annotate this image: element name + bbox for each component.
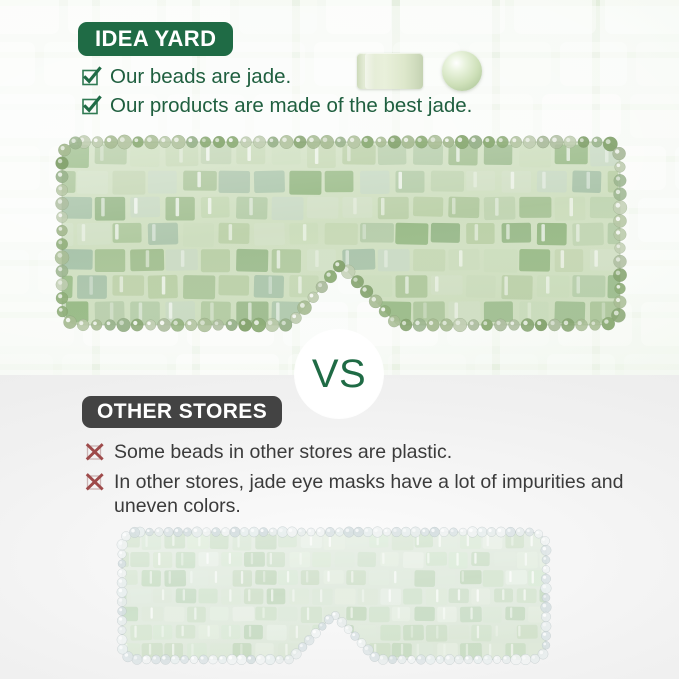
jade-bead bbox=[265, 654, 275, 664]
bead-highlight bbox=[380, 656, 383, 659]
tile-highlight bbox=[339, 276, 343, 293]
jade-bead bbox=[388, 315, 400, 327]
bead-highlight bbox=[415, 321, 419, 325]
list-item-label: In other stores, jade eye masks have a l… bbox=[114, 470, 679, 518]
bead-highlight bbox=[120, 137, 125, 142]
bead-highlight bbox=[58, 172, 62, 176]
bead-highlight bbox=[119, 627, 122, 630]
jade-bead bbox=[400, 319, 412, 331]
jade-bead bbox=[360, 285, 373, 298]
bead-highlight bbox=[134, 656, 138, 660]
bead-highlight bbox=[313, 630, 316, 633]
jade-bead bbox=[151, 655, 160, 664]
bead-highlight bbox=[615, 149, 619, 153]
jade-bead bbox=[251, 318, 265, 332]
jade-bead bbox=[542, 565, 550, 573]
jade-bead bbox=[401, 135, 414, 148]
jade-bead bbox=[118, 607, 127, 616]
bead-highlight bbox=[390, 317, 394, 321]
bead-highlight bbox=[441, 529, 444, 532]
jade-bead bbox=[318, 622, 326, 630]
bead-highlight bbox=[458, 137, 463, 142]
jade-bead bbox=[200, 137, 211, 148]
bead-highlight bbox=[220, 657, 223, 660]
bead-highlight bbox=[134, 138, 138, 142]
jade-bead bbox=[388, 135, 401, 148]
bead-highlight bbox=[71, 139, 75, 143]
jade-bead bbox=[520, 654, 531, 665]
jade-bead bbox=[91, 320, 102, 331]
jade-bead bbox=[241, 137, 252, 148]
bead-highlight bbox=[483, 321, 487, 325]
bead-highlight bbox=[616, 230, 620, 234]
bead-highlight bbox=[147, 137, 152, 142]
bead-highlight bbox=[153, 656, 156, 659]
jade-bead bbox=[218, 655, 226, 663]
vs-divider-badge: VS bbox=[295, 330, 383, 418]
jade-bead bbox=[294, 136, 307, 149]
bead-highlight bbox=[187, 321, 191, 325]
bead-highlight bbox=[527, 529, 530, 532]
jade-bead bbox=[230, 527, 240, 537]
bead-highlight bbox=[456, 320, 461, 325]
jade-bead bbox=[444, 654, 454, 664]
jade-bead bbox=[455, 655, 464, 664]
bead-highlight bbox=[479, 529, 482, 532]
jade-bead-swatch bbox=[442, 51, 482, 91]
bead-highlight bbox=[543, 557, 546, 560]
bead-highlight bbox=[174, 137, 179, 142]
jade-bead bbox=[92, 136, 103, 147]
bead-highlight bbox=[418, 656, 421, 659]
bead-highlight bbox=[617, 244, 621, 248]
jade-bead bbox=[69, 137, 82, 150]
bead-highlight bbox=[566, 138, 570, 142]
bead-highlight bbox=[616, 257, 620, 261]
jade-bead bbox=[183, 528, 192, 537]
bead-highlight bbox=[185, 529, 188, 532]
jade-bead bbox=[56, 170, 68, 182]
jade-bead bbox=[55, 251, 69, 265]
jade-bead bbox=[613, 214, 626, 227]
bead-highlight bbox=[616, 217, 620, 221]
jade-bead bbox=[615, 283, 626, 294]
jade-bead bbox=[132, 136, 143, 147]
bead-highlight bbox=[551, 321, 555, 325]
badge-idea-yard-label: IDEA YARD bbox=[95, 26, 216, 52]
jade-bead bbox=[443, 137, 454, 148]
bead-highlight bbox=[384, 529, 387, 532]
bead-highlight bbox=[147, 322, 151, 326]
jade-bead bbox=[259, 527, 268, 536]
bead-highlight bbox=[248, 657, 251, 660]
jade-bead bbox=[469, 135, 482, 148]
jade-bead bbox=[253, 136, 265, 148]
jade-bead bbox=[351, 632, 360, 641]
jade-bead bbox=[541, 583, 552, 594]
jade-bead bbox=[144, 135, 158, 149]
bead-highlight bbox=[471, 138, 475, 142]
mask-sheen bbox=[122, 532, 546, 659]
bead-highlight bbox=[309, 138, 314, 143]
badge-idea-yard: IDEA YARD bbox=[78, 22, 233, 56]
jade-bead bbox=[354, 527, 364, 537]
bead-highlight bbox=[540, 651, 543, 654]
jade-bead bbox=[561, 318, 574, 331]
bead-highlight bbox=[119, 617, 122, 620]
bead-highlight bbox=[268, 320, 273, 325]
bead-highlight bbox=[229, 138, 233, 142]
list-item-label: Our beads are jade. bbox=[110, 64, 291, 89]
bead-highlight bbox=[119, 646, 123, 650]
jade-bead bbox=[369, 295, 382, 308]
bead-highlight bbox=[442, 321, 446, 325]
comparison-infographic: IDEA YARD Our beads are jade. Our produc… bbox=[0, 0, 679, 679]
jade-bead bbox=[129, 527, 139, 537]
jade-bead bbox=[56, 292, 68, 304]
bead-highlight bbox=[512, 656, 516, 660]
jade-bead bbox=[335, 137, 346, 148]
bead-highlight bbox=[378, 139, 382, 143]
bead-highlight bbox=[66, 318, 70, 322]
jade-bead bbox=[279, 319, 292, 332]
bead-highlight bbox=[616, 298, 620, 302]
bead-highlight bbox=[470, 321, 474, 325]
drawback-list: Some beads in other stores are plastic. … bbox=[86, 440, 679, 518]
bead-highlight bbox=[522, 656, 526, 660]
bead-highlight bbox=[326, 616, 329, 619]
jade-bead bbox=[56, 157, 69, 170]
jade-bead bbox=[155, 528, 164, 537]
jade-tile bbox=[307, 301, 340, 325]
jade-bead bbox=[413, 318, 426, 331]
bead-highlight bbox=[552, 137, 557, 142]
jade-bead bbox=[105, 136, 118, 149]
jade-bead bbox=[361, 136, 373, 148]
jade-bead bbox=[117, 578, 127, 588]
bead-highlight bbox=[403, 529, 406, 532]
bead-highlight bbox=[277, 657, 280, 660]
bead-highlight bbox=[161, 138, 165, 142]
jade-bead bbox=[213, 320, 224, 331]
bead-highlight bbox=[543, 547, 547, 551]
bead-highlight bbox=[318, 529, 321, 532]
bead-highlight bbox=[93, 321, 97, 325]
jade-bead bbox=[213, 136, 225, 148]
bead-highlight bbox=[339, 619, 342, 622]
bead-highlight bbox=[346, 529, 350, 533]
bead-highlight bbox=[200, 320, 205, 325]
bead-highlight bbox=[504, 657, 507, 660]
bead-highlight bbox=[213, 529, 216, 532]
bead-highlight bbox=[204, 529, 207, 532]
jade-bead bbox=[541, 602, 552, 613]
bead-highlight bbox=[306, 637, 309, 640]
jade-bead bbox=[208, 655, 217, 664]
bead-highlight bbox=[162, 656, 165, 659]
bead-highlight bbox=[542, 538, 545, 541]
bead-highlight bbox=[355, 529, 358, 532]
bead-highlight bbox=[429, 321, 433, 325]
jade-bead bbox=[56, 278, 68, 290]
jade-bead bbox=[117, 569, 126, 578]
bead-highlight bbox=[119, 589, 123, 593]
jade-bead bbox=[550, 135, 564, 149]
jade-bead bbox=[269, 528, 277, 536]
jade-bead bbox=[525, 528, 533, 536]
bead-highlight bbox=[359, 640, 362, 643]
bead-highlight bbox=[166, 529, 169, 532]
jade-bead bbox=[117, 318, 131, 332]
bead-highlight bbox=[282, 321, 286, 325]
bead-highlight bbox=[61, 146, 65, 150]
bead-highlight bbox=[156, 529, 159, 532]
bead-highlight bbox=[173, 321, 177, 325]
bead-highlight bbox=[147, 529, 150, 532]
cross-x-icon bbox=[86, 443, 105, 462]
jade-bead bbox=[615, 243, 626, 254]
jade-bead bbox=[117, 616, 127, 626]
bead-highlight bbox=[617, 285, 621, 289]
jade-bead bbox=[357, 638, 366, 647]
jade-bead bbox=[344, 527, 355, 538]
jade-bead bbox=[117, 597, 127, 607]
bead-highlight bbox=[390, 657, 393, 660]
bead-highlight bbox=[270, 138, 274, 142]
jade-bead bbox=[77, 319, 89, 331]
jade-bead bbox=[277, 527, 288, 538]
jade-bead bbox=[421, 528, 429, 536]
bead-highlight bbox=[456, 657, 459, 660]
checkbox-check-icon bbox=[82, 67, 101, 86]
bead-highlight bbox=[267, 656, 271, 660]
bead-highlight bbox=[337, 139, 341, 143]
bead-highlight bbox=[133, 321, 137, 325]
bead-highlight bbox=[402, 321, 406, 325]
jade-bead bbox=[337, 617, 347, 627]
bead-highlight bbox=[310, 294, 314, 298]
jade-bead bbox=[541, 574, 550, 583]
jade-bead bbox=[324, 270, 337, 283]
bead-highlight bbox=[606, 139, 611, 144]
jade-bead bbox=[190, 655, 198, 663]
bead-highlight bbox=[257, 656, 260, 659]
jade-eye-mask-premium-image bbox=[58, 136, 624, 336]
jade-bead bbox=[64, 316, 77, 329]
bead-highlight bbox=[286, 656, 289, 659]
bead-highlight bbox=[499, 138, 503, 142]
bead-highlight bbox=[517, 529, 520, 532]
bead-highlight bbox=[241, 321, 245, 325]
jade-bead bbox=[410, 527, 420, 537]
jade-bead bbox=[118, 626, 126, 634]
bead-highlight bbox=[144, 657, 147, 660]
bead-highlight bbox=[362, 287, 366, 291]
jade-bead bbox=[105, 320, 116, 331]
bead-highlight bbox=[107, 138, 111, 142]
bead-highlight bbox=[469, 528, 473, 532]
jade-bead bbox=[459, 528, 467, 536]
jade-bead bbox=[415, 136, 427, 148]
jade-bead bbox=[308, 292, 319, 303]
jade-bead bbox=[202, 528, 211, 537]
jade-bead bbox=[483, 136, 495, 148]
bead-highlight bbox=[525, 138, 529, 142]
jade-bead bbox=[575, 319, 587, 331]
bead-highlight bbox=[372, 654, 375, 657]
bead-highlight bbox=[616, 176, 620, 180]
bead-highlight bbox=[58, 294, 62, 298]
jade-bead bbox=[502, 655, 511, 664]
bead-highlight bbox=[255, 138, 259, 142]
jade-bead bbox=[535, 530, 543, 538]
jade-bead bbox=[348, 136, 361, 149]
jade-bead bbox=[416, 655, 426, 665]
bead-highlight bbox=[232, 529, 236, 533]
bead-highlight bbox=[182, 657, 185, 660]
jade-bead bbox=[145, 320, 156, 331]
jade-bead bbox=[240, 527, 249, 536]
bead-highlight bbox=[466, 657, 469, 660]
jade-bead bbox=[542, 641, 550, 649]
jade-bead bbox=[477, 527, 487, 537]
jade-bead bbox=[55, 197, 68, 210]
bead-highlight bbox=[58, 240, 62, 244]
jade-bead bbox=[440, 319, 453, 332]
jade-bead bbox=[226, 319, 238, 331]
bead-highlight bbox=[507, 529, 510, 532]
jade-bead bbox=[398, 655, 406, 663]
bead-highlight bbox=[58, 213, 62, 217]
jade-bead bbox=[164, 527, 173, 536]
bead-highlight bbox=[326, 272, 330, 276]
jade-bead bbox=[408, 656, 416, 664]
bead-highlight bbox=[119, 541, 123, 545]
bead-highlight bbox=[229, 656, 233, 660]
jade-bead bbox=[236, 654, 246, 664]
jade-bead bbox=[614, 255, 627, 268]
bead-highlight bbox=[242, 529, 245, 532]
jade-bead bbox=[297, 301, 311, 315]
bead-highlight bbox=[543, 623, 546, 626]
jade-bead bbox=[333, 260, 345, 272]
jade-bead bbox=[227, 136, 239, 148]
jade-bead bbox=[564, 136, 576, 148]
jade-bead bbox=[131, 319, 143, 331]
bead-highlight bbox=[333, 613, 336, 616]
jade-bead bbox=[185, 319, 197, 331]
jade-bead bbox=[614, 296, 627, 309]
jade-bead bbox=[464, 655, 473, 664]
bead-highlight bbox=[119, 570, 122, 573]
bead-highlight bbox=[497, 321, 501, 325]
jade-bead bbox=[199, 655, 208, 664]
jade-bead bbox=[521, 318, 534, 331]
bead-highlight bbox=[119, 608, 122, 611]
jade-bead bbox=[376, 137, 387, 148]
bead-highlight bbox=[617, 163, 621, 167]
jade-bead bbox=[493, 656, 501, 664]
list-item: In other stores, jade eye masks have a l… bbox=[86, 470, 679, 518]
bead-highlight bbox=[119, 598, 122, 601]
bead-highlight bbox=[537, 321, 541, 325]
bead-highlight bbox=[485, 138, 489, 142]
bead-highlight bbox=[346, 626, 349, 629]
jade-bead bbox=[221, 528, 230, 537]
jade-bead bbox=[363, 527, 373, 537]
jade-bead bbox=[592, 137, 603, 148]
bead-highlight bbox=[261, 529, 264, 532]
jade-bead bbox=[453, 318, 467, 332]
jade-bead bbox=[428, 135, 442, 149]
bead-highlight bbox=[564, 321, 569, 326]
jade-bead bbox=[537, 136, 549, 148]
jade-bead bbox=[530, 654, 539, 663]
jade-bead bbox=[401, 527, 411, 537]
jade-bead bbox=[57, 225, 68, 236]
bead-highlight bbox=[451, 529, 454, 532]
jade-bead bbox=[56, 184, 68, 196]
jade-bead bbox=[118, 560, 126, 568]
bead-highlight bbox=[512, 138, 516, 142]
bead-highlight bbox=[523, 321, 527, 325]
bead-highlight bbox=[59, 227, 63, 231]
jade-bead bbox=[487, 527, 496, 536]
bead-highlight bbox=[536, 531, 539, 534]
jade-bead bbox=[483, 655, 493, 665]
bead-highlight bbox=[228, 321, 232, 325]
bead-highlight bbox=[172, 656, 175, 659]
jade-bead bbox=[541, 621, 551, 631]
jade-bead bbox=[192, 527, 202, 537]
jade-bead bbox=[324, 615, 333, 624]
bead-highlight bbox=[484, 656, 487, 659]
bead-highlight bbox=[320, 624, 323, 627]
bead-highlight bbox=[399, 657, 402, 660]
bead-highlight bbox=[350, 138, 354, 142]
jade-bead bbox=[455, 135, 469, 149]
bead-highlight bbox=[404, 138, 408, 142]
jade-bead bbox=[307, 528, 315, 536]
bead-highlight bbox=[215, 138, 219, 142]
jade-bead bbox=[118, 550, 127, 559]
bead-highlight bbox=[202, 138, 206, 142]
jade-bead bbox=[613, 268, 626, 281]
bead-highlight bbox=[131, 529, 135, 533]
jade-bead bbox=[511, 654, 522, 665]
bead-highlight bbox=[543, 567, 546, 570]
bead-highlight bbox=[282, 138, 287, 143]
bead-highlight bbox=[191, 657, 194, 660]
bead-highlight bbox=[175, 529, 178, 532]
jade-bead bbox=[160, 654, 170, 664]
jade-bead bbox=[280, 135, 293, 148]
bead-highlight bbox=[393, 529, 396, 532]
bead-highlight bbox=[119, 320, 124, 325]
jade-bead bbox=[117, 135, 131, 149]
bead-highlight bbox=[431, 529, 434, 532]
jade-bead bbox=[256, 655, 266, 665]
bead-highlight bbox=[475, 657, 478, 660]
jade-bead bbox=[316, 528, 325, 537]
bead-highlight bbox=[543, 595, 546, 598]
bead-highlight bbox=[390, 138, 394, 142]
jade-tile bbox=[323, 643, 343, 659]
jade-bead bbox=[542, 594, 550, 602]
jade-bead bbox=[265, 318, 279, 332]
bead-highlight bbox=[543, 643, 546, 646]
jade-bead bbox=[426, 655, 436, 665]
